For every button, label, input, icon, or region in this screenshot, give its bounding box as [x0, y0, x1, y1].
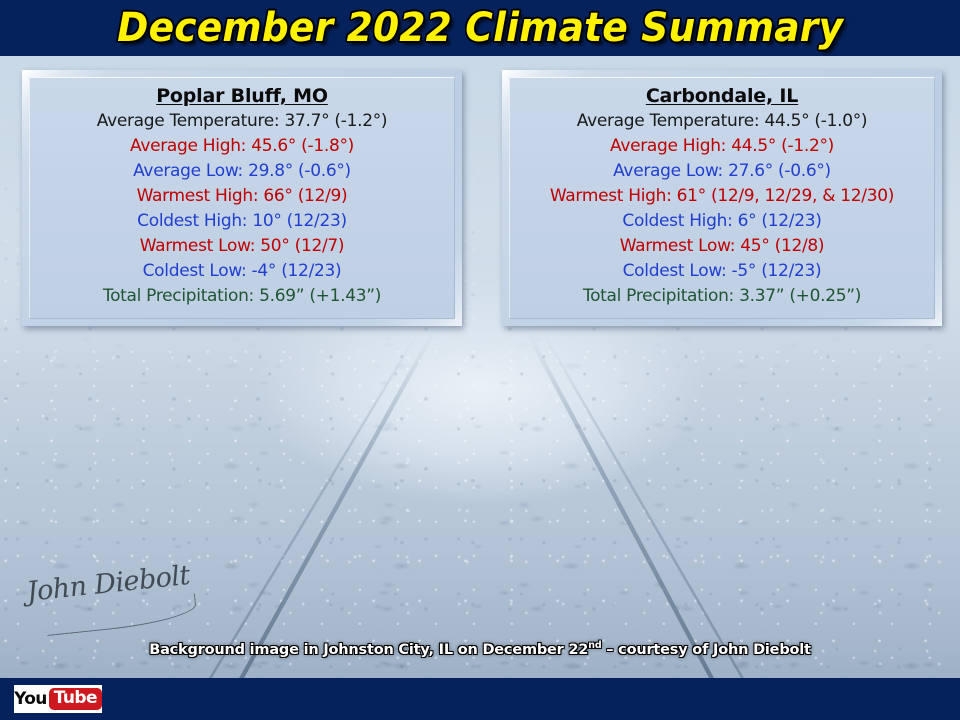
- youtube-you-text: You: [14, 689, 47, 709]
- page-title: December 2022 Climate Summary: [117, 8, 843, 48]
- caption-ordinal: nd: [588, 640, 601, 651]
- stat-average-high: Average High: 45.6° (-1.8°): [40, 134, 444, 159]
- stat-warmest-low: Warmest Low: 45° (12/8): [520, 234, 924, 259]
- climate-summary-graphic: John Diebolt December 2022 Climate Summa…: [0, 0, 960, 720]
- stat-warmest-low: Warmest Low: 50° (12/7): [40, 234, 444, 259]
- rail-left-inner: [209, 330, 421, 678]
- stat-average-low: Average Low: 29.8° (-0.6°): [40, 159, 444, 184]
- caption-after: – courtesy of John Diebolt: [601, 642, 810, 658]
- panel-station-name: Carbondale, IL: [520, 85, 924, 107]
- footer-bar: You Tube f @NWSPaducah weather.gov/pah N…: [0, 678, 960, 720]
- panel-station-name: Poplar Bluff, MO: [40, 85, 444, 107]
- caption-before: Background image in Johnston City, IL on…: [149, 642, 588, 658]
- youtube-tube-text: Tube: [49, 688, 102, 710]
- stat-average-high: Average High: 44.5° (-1.2°): [520, 134, 924, 159]
- panel-poplar-bluff: Poplar Bluff, MO Average Temperature: 37…: [22, 70, 462, 326]
- stat-total-precipitation: Total Precipitation: 3.37” (+0.25”): [520, 284, 924, 309]
- youtube-icon[interactable]: You Tube: [14, 685, 102, 713]
- stat-coldest-high: Coldest High: 10° (12/23): [40, 209, 444, 234]
- stat-warmest-high: Warmest High: 61° (12/9, 12/29, & 12/30): [520, 184, 924, 209]
- stat-coldest-high: Coldest High: 6° (12/23): [520, 209, 924, 234]
- stat-coldest-low: Coldest Low: -5° (12/23): [520, 259, 924, 284]
- rail-left-outer: [239, 330, 437, 678]
- rail-right-outer: [524, 330, 714, 678]
- stat-warmest-high: Warmest High: 66° (12/9): [40, 184, 444, 209]
- panel-carbondale: Carbondale, IL Average Temperature: 44.5…: [502, 70, 942, 326]
- photo-credit-caption: Background image in Johnston City, IL on…: [0, 640, 960, 658]
- stat-coldest-low: Coldest Low: -4° (12/23): [40, 259, 444, 284]
- stat-total-precipitation: Total Precipitation: 5.69” (+1.43”): [40, 284, 444, 309]
- title-bar: December 2022 Climate Summary: [0, 0, 960, 56]
- rail-right-inner: [540, 330, 744, 678]
- stat-average-low: Average Low: 27.6° (-0.6°): [520, 159, 924, 184]
- stat-average-temperature: Average Temperature: 44.5° (-1.0°): [520, 109, 924, 134]
- stat-average-temperature: Average Temperature: 37.7° (-1.2°): [40, 109, 444, 134]
